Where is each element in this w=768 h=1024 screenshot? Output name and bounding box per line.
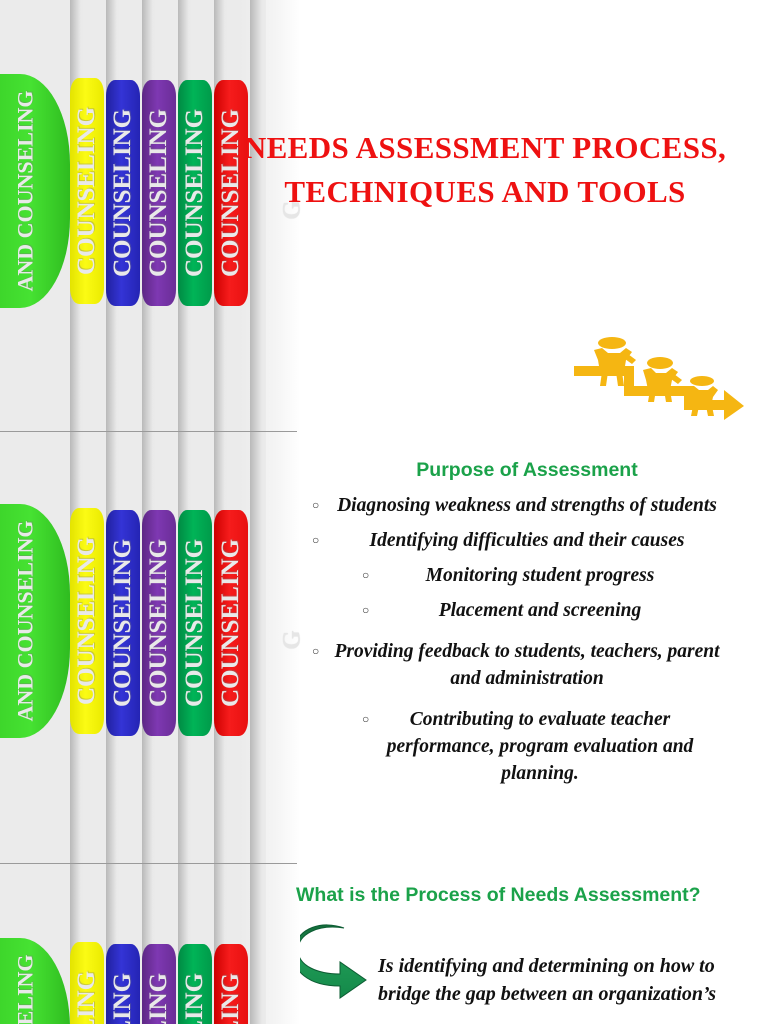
spine-label: COUNSELING (145, 109, 173, 277)
book-spines-artwork-2: AND COUNSELING COUNSELING COUNSELING COU… (0, 432, 310, 863)
book-gap-shadow (214, 0, 228, 431)
answer-line-2: bridge the gap between an organization’s (378, 980, 768, 1008)
spine-color-yellow (70, 508, 104, 734)
spine-color-red (214, 944, 248, 1024)
spine-label: COUNSELING (181, 539, 209, 707)
book-spine-6: COUNSELING (214, 944, 248, 1024)
book-spine-2: COUNSELING (70, 78, 104, 304)
spine-label: COUNSELING (109, 539, 137, 707)
spine-color-purple (142, 944, 176, 1024)
answer-line-1: Is identifying and determining on how to (378, 952, 768, 980)
book-gap-shadow (250, 864, 266, 1024)
spine-label: COUNSELING (73, 971, 101, 1024)
spine-label: COUNSELING (181, 973, 209, 1024)
book-spine-3: COUNSELING (106, 944, 140, 1024)
spine-label: AND COUNSELING (14, 938, 39, 1024)
slide-page-2: AND COUNSELING COUNSELING COUNSELING COU… (0, 432, 768, 863)
list-item-label: Monitoring student progress (382, 562, 698, 589)
list-item: ○ Providing feedback to students, teache… (296, 638, 758, 692)
book-gap-shadow (178, 0, 192, 431)
title-line-2: TECHNIQUES AND TOOLS (185, 170, 768, 214)
list-item: ○ Placement and screening (296, 597, 758, 624)
book-gap-shadow (70, 864, 84, 1024)
slide-divider-1 (0, 431, 297, 432)
spine-label: AND COUNSELING (14, 504, 39, 738)
book-spine-3: COUNSELING (106, 80, 140, 306)
slide-page-1: AND COUNSELING COUNSELING COUNSELING COU… (0, 0, 768, 431)
slide-divider-2 (0, 863, 297, 864)
page-title: NEEDS ASSESSMENT PROCESS, TECHNIQUES AND… (185, 126, 768, 214)
spine-color-blue (106, 944, 140, 1024)
spine-color-yellow (70, 78, 104, 304)
list-item-label: Identifying difficulties and their cause… (332, 527, 722, 554)
book-gap-shadow (142, 864, 156, 1024)
section-heading-process-question: What is the Process of Needs Assessment? (296, 884, 766, 907)
list-item: ○ Diagnosing weakness and strengths of s… (296, 492, 758, 519)
spine-label: COUNSELING (109, 973, 137, 1024)
books-background (0, 864, 300, 1024)
slide-page-3: AND COUNSELING COUNSELING COUNSELING COU… (0, 864, 768, 1024)
curved-green-arrow-icon (296, 922, 388, 1008)
spine-color-green2 (178, 944, 212, 1024)
section-heading-purpose: Purpose of Assessment (296, 459, 758, 482)
book-spine-2: COUNSELING (70, 508, 104, 734)
book-gap-shadow (178, 432, 192, 863)
spine-label: COUNSELING (217, 973, 245, 1024)
book-spine-1: AND COUNSELING (0, 74, 70, 308)
book-gap-shadow (106, 864, 120, 1024)
book-spine-6: COUNSELING (214, 510, 248, 736)
book-gap-shadow (178, 864, 192, 1024)
bullet-marker-icon: ○ (362, 597, 369, 624)
spine-color-green (0, 74, 70, 308)
spine-color-green (0, 938, 70, 1024)
spine-color-purple (142, 510, 176, 736)
bullet-marker-icon: ○ (362, 562, 369, 589)
spine-label: COUNSELING (73, 537, 101, 705)
book-spines-artwork-3: AND COUNSELING COUNSELING COUNSELING COU… (0, 864, 310, 1024)
spine-color-red (214, 510, 248, 736)
book-gap-shadow (70, 432, 84, 863)
book-spine-3: COUNSELING (106, 510, 140, 736)
list-item: ○ Contributing to evaluate teacher perfo… (296, 706, 758, 787)
book-spine-5: COUNSELING (178, 944, 212, 1024)
book-spines-artwork-1: AND COUNSELING COUNSELING COUNSELING COU… (0, 0, 310, 431)
spine-label: COUNSELING (145, 539, 173, 707)
list-item-label: Diagnosing weakness and strengths of stu… (332, 492, 722, 519)
list-item: ○ Identifying difficulties and their cau… (296, 527, 758, 554)
bullet-marker-icon: ○ (312, 527, 319, 554)
spine-label: AND COUNSELING (14, 74, 39, 308)
book-spine-2: COUNSELING (70, 942, 104, 1024)
slide-3-answer: Is identifying and determining on how to… (378, 952, 768, 1008)
book-spine-4: COUNSELING (142, 944, 176, 1024)
bullet-marker-icon: ○ (312, 638, 319, 665)
book-gap-shadow (142, 432, 156, 863)
book-gap-shadow (214, 432, 228, 863)
book-spine-1: AND COUNSELING (0, 938, 70, 1024)
book-spine-4: COUNSELING (142, 510, 176, 736)
book-gap-shadow (214, 864, 228, 1024)
bullet-marker-icon: ○ (362, 706, 369, 733)
slide-3-body: What is the Process of Needs Assessment? (296, 884, 766, 907)
people-descending-arrow-icon (572, 326, 746, 422)
list-item-label: Contributing to evaluate teacher perform… (382, 706, 698, 787)
spine-color-blue (106, 80, 140, 306)
book-gap-shadow (106, 432, 120, 863)
book-gap-shadow (250, 0, 266, 431)
book-gap-shadow (250, 432, 266, 863)
spine-color-blue (106, 510, 140, 736)
spine-color-green (0, 504, 70, 738)
bullet-marker-icon: ○ (312, 492, 319, 519)
list-item: ○ Monitoring student progress (296, 562, 758, 589)
purpose-bullet-list: ○ Diagnosing weakness and strengths of s… (296, 492, 758, 787)
book-spine-4: COUNSELING (142, 80, 176, 306)
book-spine-1: AND COUNSELING (0, 504, 70, 738)
books-background (0, 0, 300, 431)
spine-label: COUNSELING (109, 109, 137, 277)
spine-color-purple (142, 80, 176, 306)
document-viewer[interactable]: AND COUNSELING COUNSELING COUNSELING COU… (0, 0, 768, 1024)
book-gap-shadow (142, 0, 156, 431)
book-spine-5: COUNSELING (178, 510, 212, 736)
title-line-1: NEEDS ASSESSMENT PROCESS, (185, 126, 768, 170)
spine-color-green2 (178, 510, 212, 736)
spine-label: COUNSELING (217, 539, 245, 707)
book-gap-shadow (70, 0, 84, 431)
list-item-label: Providing feedback to students, teachers… (332, 638, 722, 692)
books-background (0, 432, 300, 863)
spine-color-yellow (70, 942, 104, 1024)
spine-label: COUNSELING (145, 973, 173, 1024)
spine-label: COUNSELING (73, 107, 101, 275)
list-item-label: Placement and screening (382, 597, 698, 624)
slide-2-body: Purpose of Assessment ○ Diagnosing weakn… (296, 459, 758, 795)
book-gap-shadow (106, 0, 120, 431)
